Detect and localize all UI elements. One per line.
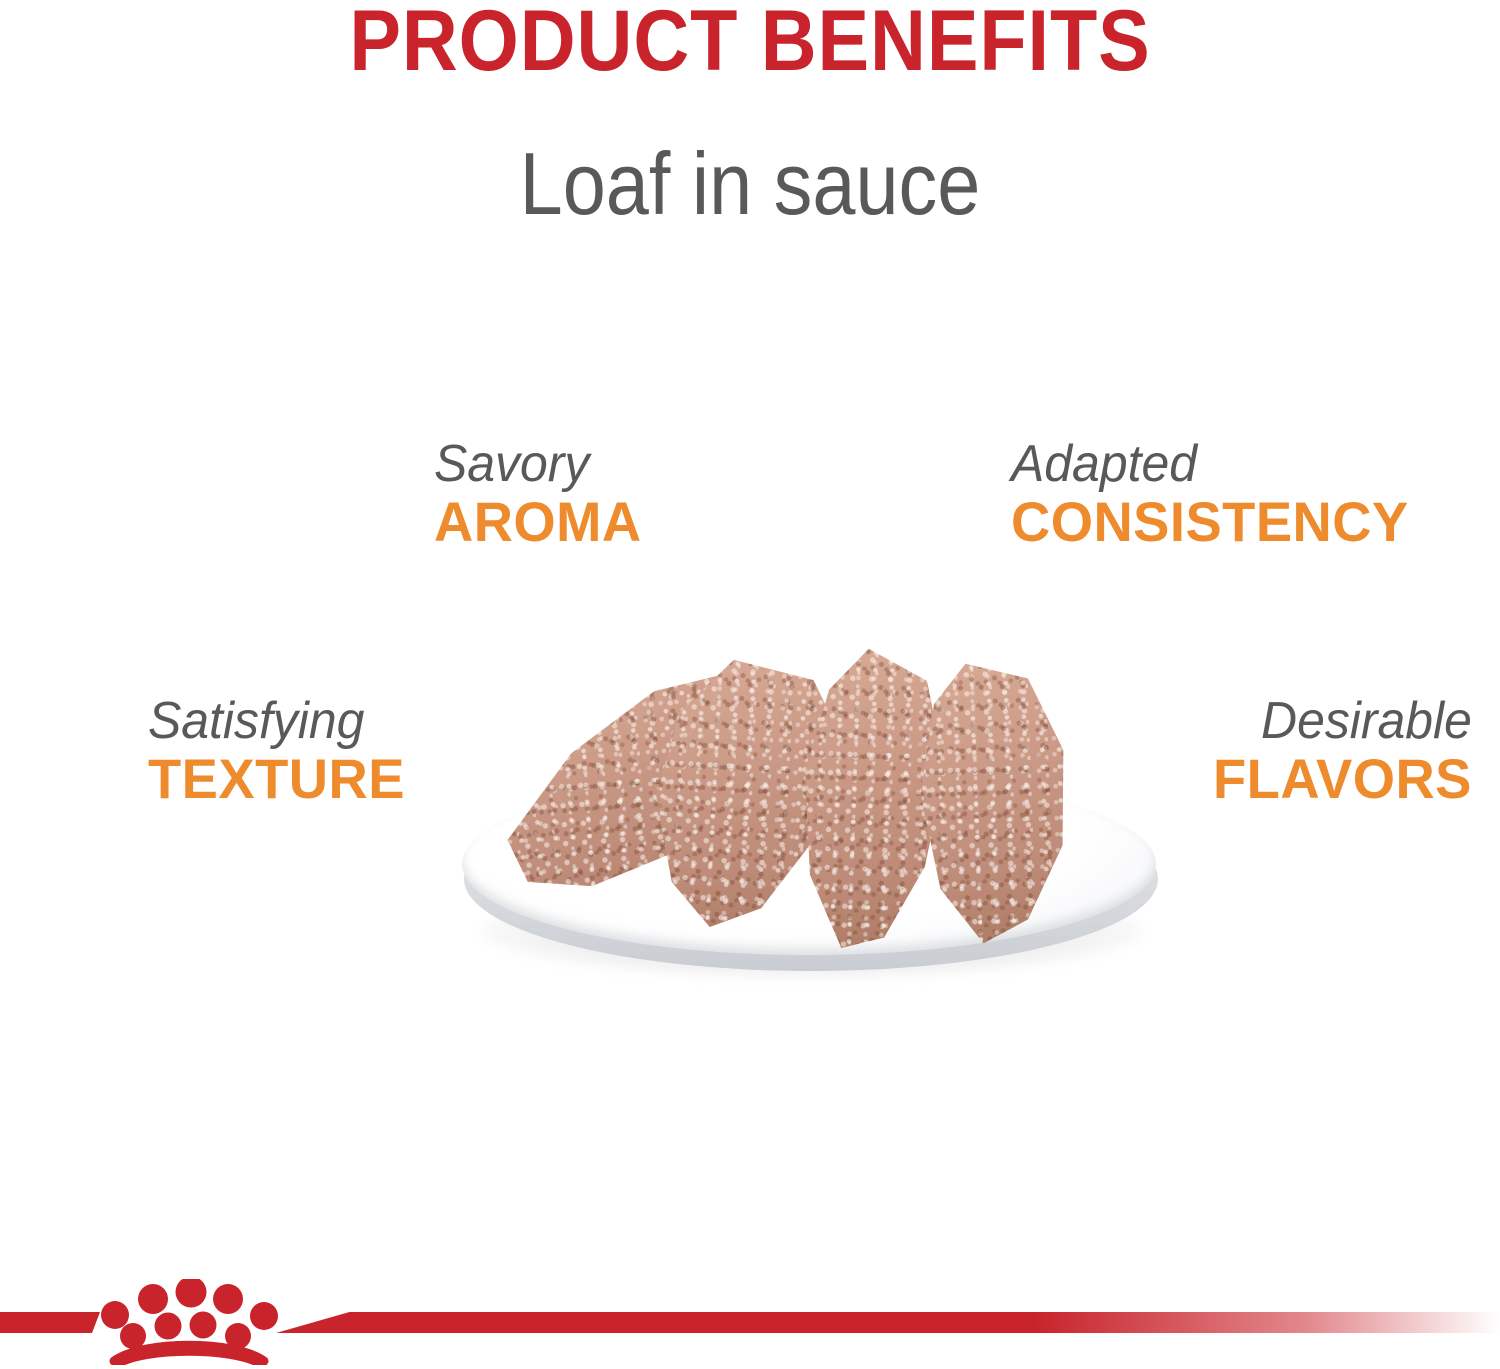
benefit-flavors-noun: FLAVORS	[1213, 749, 1472, 808]
crown-icon	[98, 1279, 280, 1365]
benefit-texture-adjective: Satisfying	[148, 694, 402, 749]
page-title: PRODUCT BENEFITS	[75, 0, 1425, 84]
benefit-texture: Satisfying TEXTURE	[148, 694, 413, 808]
product-image	[440, 615, 1180, 1035]
benefit-consistency: Adapted CONSISTENCY	[1011, 437, 1421, 551]
benefit-flavors: Desirable FLAVORS	[1205, 694, 1472, 808]
benefit-flavors-adjective: Desirable	[1216, 694, 1472, 749]
benefit-consistency-noun: CONSISTENCY	[1011, 492, 1409, 551]
brand-bar-right-segment	[276, 1312, 1500, 1333]
benefit-texture-noun: TEXTURE	[148, 749, 405, 808]
benefit-consistency-adjective: Adapted	[1011, 437, 1405, 492]
benefit-aroma: Savory AROMA	[434, 437, 648, 551]
brand-bar-left-segment	[0, 1312, 100, 1333]
footer-brand-bar	[0, 1273, 1500, 1369]
page-subtitle: Loaf in sauce	[90, 140, 1410, 228]
benefit-aroma-noun: AROMA	[434, 492, 642, 551]
benefit-aroma-adjective: Savory	[434, 437, 639, 492]
product-benefits-infographic: PRODUCT BENEFITS Loaf in sauce Savory AR…	[0, 0, 1500, 1369]
